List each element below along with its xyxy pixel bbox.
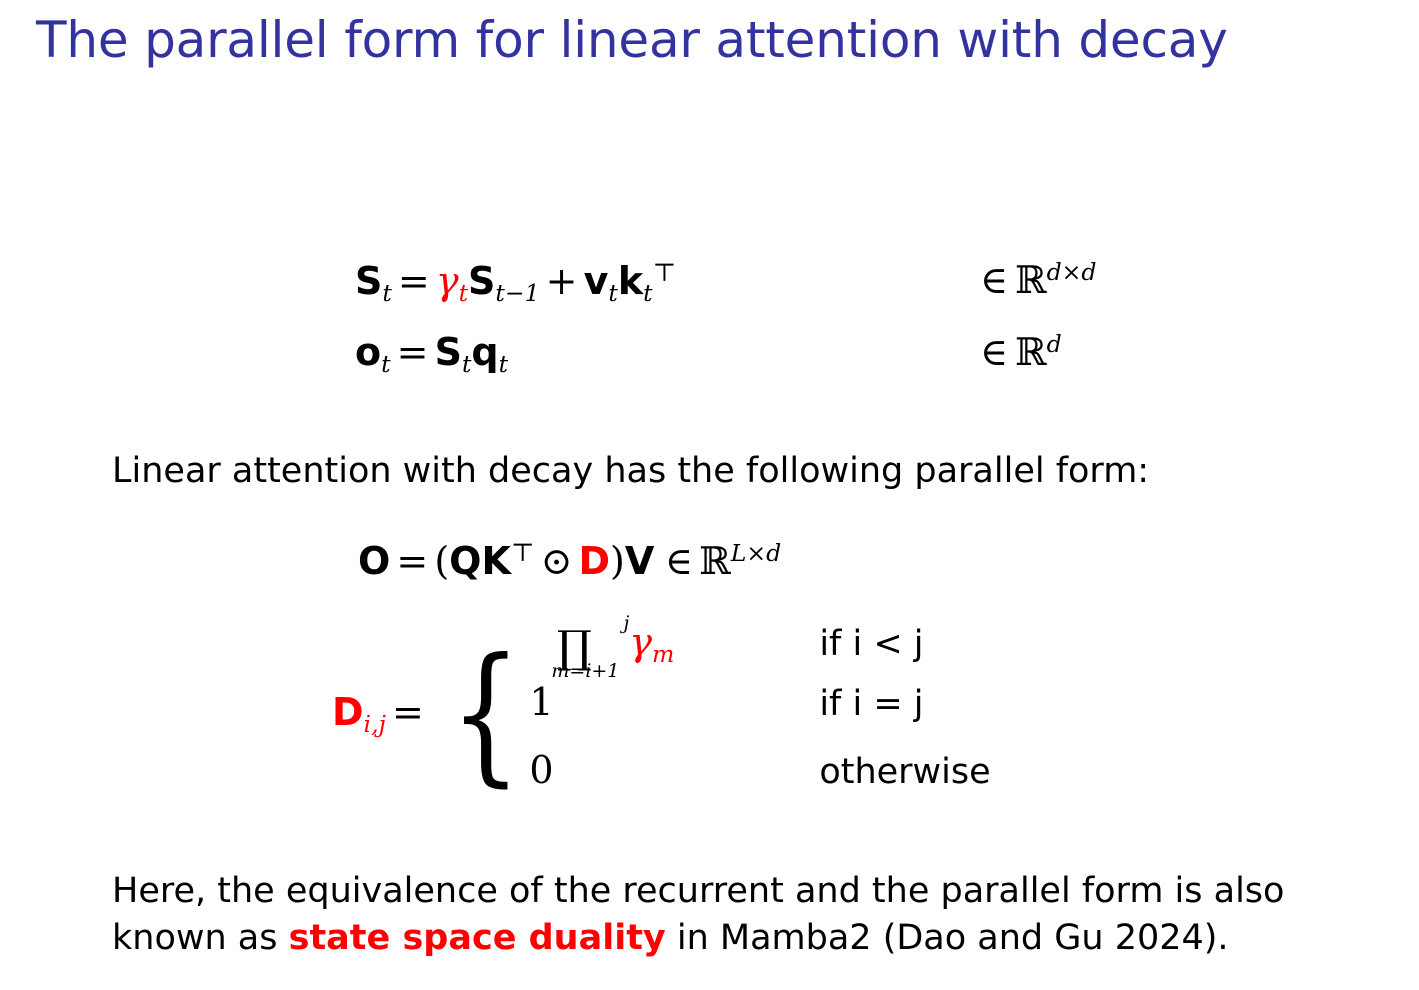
right-paren: ) bbox=[610, 539, 625, 583]
subscript-S-t: t bbox=[462, 350, 471, 378]
superscript-dimensions: d×d bbox=[1047, 258, 1097, 286]
symbol-real-numbers: ℝ bbox=[699, 539, 731, 583]
cases-row: 0 otherwise bbox=[529, 748, 990, 816]
symbol-O: O bbox=[358, 539, 390, 583]
cases-left-hand-side: Di,j= bbox=[332, 690, 436, 738]
subscript-q-t: t bbox=[499, 350, 508, 378]
subscript-v-t: t bbox=[608, 279, 617, 307]
case-value: 0 bbox=[529, 748, 819, 792]
symbol-real-numbers: ℝ bbox=[1008, 258, 1046, 302]
product-upper-limit: j bbox=[623, 614, 629, 633]
symbol-D: D bbox=[332, 690, 364, 734]
space-annotation-d-by-d: ∈ℝd×d bbox=[980, 258, 1096, 302]
equation-output: ot=Stqt bbox=[355, 330, 508, 378]
symbol-o: o bbox=[355, 330, 381, 374]
superscript-dimensions: L×d bbox=[731, 539, 781, 567]
cases-row: j∏m=i+1γm if i < j bbox=[529, 612, 990, 680]
symbol-element-of: ∈ bbox=[654, 539, 699, 583]
subscript-t-minus-1: t−1 bbox=[495, 279, 539, 307]
superscript-transpose: ⊤ bbox=[511, 538, 535, 567]
operator-equals: = bbox=[391, 330, 435, 374]
symbol-q: q bbox=[471, 330, 498, 374]
case-condition: if i < j bbox=[819, 624, 923, 664]
page-title: The parallel form for linear attention w… bbox=[36, 12, 1228, 68]
operator-plus: + bbox=[540, 259, 584, 303]
product-operator: j∏m=i+1 bbox=[529, 614, 619, 681]
closing-text-part2: in Mamba2 (Dao and Gu 2024). bbox=[666, 918, 1229, 958]
space-annotation-d: ∈ℝd bbox=[980, 330, 1062, 374]
case-value-product: j∏m=i+1γm bbox=[529, 612, 819, 679]
symbol-Q: Q bbox=[449, 539, 481, 583]
cases-rows: j∏m=i+1γm if i < j 1 if i = j 0 otherwis… bbox=[529, 612, 990, 816]
subscript-t: t bbox=[382, 279, 391, 307]
closing-text-highlight: state space duality bbox=[289, 918, 666, 958]
equation-parallel-form: O=(QK⊤⊙D)V∈ℝL×d bbox=[358, 538, 781, 583]
case-value: 1 bbox=[529, 680, 819, 724]
operator-equals: = bbox=[392, 259, 436, 303]
symbol-V: V bbox=[625, 539, 654, 583]
case-condition: otherwise bbox=[819, 752, 990, 792]
operator-equals: = bbox=[386, 690, 430, 734]
cases-definition-D: Di,j= { j∏m=i+1γm if i < j 1 if i = j 0 … bbox=[332, 612, 991, 816]
symbol-real-numbers: ℝ bbox=[1008, 330, 1046, 374]
superscript-dimension: d bbox=[1047, 330, 1062, 358]
case-condition: if i = j bbox=[819, 684, 923, 724]
product-lower-limit: m=i+1 bbox=[551, 662, 619, 681]
intro-text: Linear attention with decay has the foll… bbox=[112, 448, 1149, 495]
equation-row-output: ot=Stqt ∈ℝd bbox=[0, 330, 1419, 402]
symbol-D: D bbox=[579, 539, 611, 583]
subscript-k-t: t bbox=[643, 279, 652, 307]
superscript-transpose: ⊤ bbox=[653, 258, 677, 287]
closing-text: Here, the equivalence of the recurrent a… bbox=[112, 868, 1382, 962]
symbol-S: S bbox=[355, 259, 382, 303]
left-curly-brace-icon: { bbox=[450, 654, 522, 774]
symbol-S: S bbox=[435, 330, 462, 374]
subscript-gamma-t: t bbox=[459, 279, 468, 307]
symbol-k: k bbox=[618, 259, 643, 303]
subscript-gamma-m: m bbox=[652, 640, 674, 668]
left-paren: ( bbox=[434, 539, 449, 583]
subscript-i-j: i,j bbox=[364, 710, 386, 738]
symbol-v: v bbox=[584, 259, 609, 303]
symbol-K: K bbox=[481, 539, 510, 583]
subscript-o-t: t bbox=[381, 350, 390, 378]
symbol-gamma: γ bbox=[436, 259, 459, 303]
equation-row-state-update: St=γtSt−1+vtkt⊤ ∈ℝd×d bbox=[0, 258, 1419, 330]
symbol-element-of: ∈ bbox=[980, 330, 1008, 374]
operator-equals: = bbox=[390, 539, 434, 583]
symbol-S-prev: S bbox=[468, 259, 495, 303]
symbol-element-of: ∈ bbox=[980, 258, 1008, 302]
equation-state-update: St=γtSt−1+vtkt⊤ bbox=[355, 258, 676, 307]
operator-hadamard-product: ⊙ bbox=[535, 539, 579, 583]
cases-row: 1 if i = j bbox=[529, 680, 990, 748]
recurrent-form-equations: St=γtSt−1+vtkt⊤ ∈ℝd×d ot=Stqt ∈ℝd bbox=[0, 258, 1419, 402]
